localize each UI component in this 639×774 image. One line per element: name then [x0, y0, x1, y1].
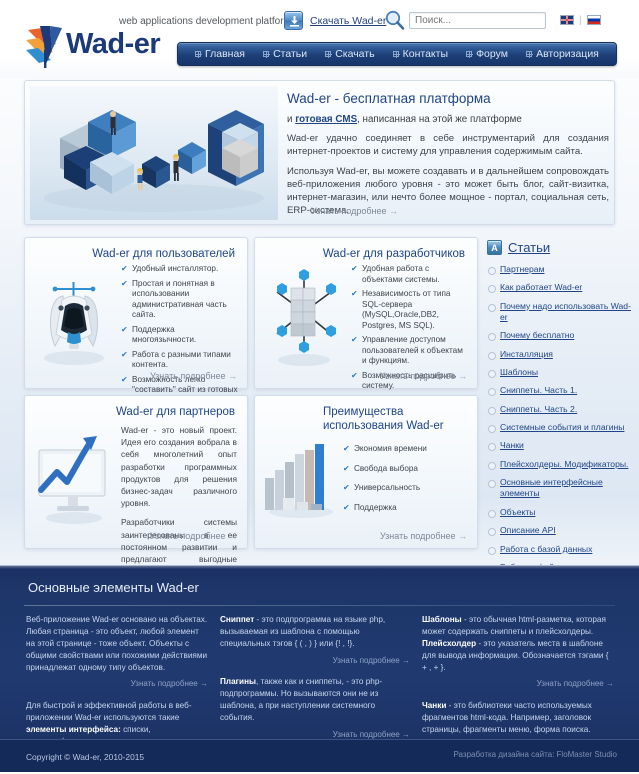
- nav-item-articles[interactable]: Статьи: [263, 48, 307, 60]
- key-element-block: Шаблоны - это обычная html-разметка, кот…: [422, 614, 614, 690]
- arrow-right-icon: →: [200, 679, 208, 688]
- list-item[interactable]: Работа с базой данных: [487, 544, 632, 555]
- logo-mark-icon: [22, 24, 70, 68]
- nav-item-label: Форум: [476, 48, 508, 60]
- list-item: Удобный инсталлятор.: [121, 264, 239, 275]
- hero-subtitle: и готовая CMS, написанная на этой же пла…: [287, 114, 609, 125]
- nav-item-label: Главная: [205, 48, 245, 60]
- more-label: Узнать подробнее: [150, 531, 226, 541]
- list-item[interactable]: Партнерам: [487, 264, 632, 275]
- partners-more-link[interactable]: Узнать подробнее →: [150, 531, 237, 541]
- text-bold: Шаблоны: [422, 615, 462, 624]
- grid-icon: [195, 51, 201, 57]
- box-title: Преимущества использования Wad-er: [255, 396, 477, 439]
- hero-sub-suffix: , написанная на этой же платформе: [357, 114, 522, 125]
- developers-more-link[interactable]: Узнать подробнее →: [380, 371, 467, 381]
- site-footer: Copyright © Wad-er, 2010-2015 Разработка…: [0, 739, 639, 772]
- key-elements-section: Основные элементы Wad-er Веб-приложение …: [0, 565, 639, 739]
- language-switcher: |: [560, 11, 608, 29]
- more-label: Узнать подробнее: [333, 656, 400, 665]
- text-body: - это библиотеки часто используемых фраг…: [422, 701, 592, 734]
- objects-more-link[interactable]: Узнать подробнее →: [26, 678, 208, 690]
- text-bold: Сниппет: [220, 615, 254, 624]
- download-link[interactable]: Скачать Wad-er: [310, 15, 386, 27]
- list-item[interactable]: Объекты: [487, 507, 632, 518]
- article-link[interactable]: Объекты: [500, 507, 535, 517]
- more-label: Узнать подробнее: [333, 730, 400, 739]
- feature-box-advantages: Преимущества использования Wad-er Эконом…: [254, 395, 478, 549]
- arrow-right-icon: →: [228, 371, 237, 381]
- text-bold: Чанки: [422, 701, 446, 710]
- list-item: Простая и понятная в использовании админ…: [121, 279, 239, 321]
- templates-more-link[interactable]: Узнать подробнее →: [422, 678, 614, 690]
- key-elements-column-2: Сниппет - это подпрограмма на языке php,…: [220, 614, 410, 750]
- hero-sub-prefix: и: [287, 114, 295, 125]
- more-label: Узнать подробнее: [131, 679, 198, 688]
- article-link[interactable]: Шаблоны: [500, 367, 538, 377]
- list-item: Свобода выбора: [343, 464, 469, 475]
- site-tagline: web applications development platform: [119, 16, 292, 27]
- list-item[interactable]: Инсталляция: [487, 349, 632, 360]
- sidebar-title[interactable]: Статьи: [508, 240, 550, 255]
- divider: [24, 605, 615, 606]
- grid-icon: [526, 51, 532, 57]
- list-item[interactable]: Плейсхолдеры. Модификаторы.: [487, 459, 632, 470]
- sidebar-header: A Статьи: [487, 240, 632, 255]
- site-logo[interactable]: Wad-er: [22, 22, 182, 70]
- grid-icon: [325, 51, 331, 57]
- list-item[interactable]: Почему бесплатно: [487, 330, 632, 341]
- list-item: Поддержка: [343, 503, 469, 514]
- arrow-right-icon: →: [458, 371, 467, 381]
- flag-separator: |: [579, 15, 582, 26]
- partners-paragraphs: Wad-er - это новый проект. Идея его созд…: [121, 424, 237, 584]
- article-link[interactable]: Системные события и плагины: [500, 422, 624, 432]
- key-element-block: Сниппет - это подпрограмма на языке php,…: [220, 614, 410, 666]
- list-item[interactable]: Системные события и плагины: [487, 422, 632, 433]
- nav-item-download[interactable]: Скачать: [325, 48, 374, 60]
- site-header: Wad-er web applications development plat…: [0, 0, 639, 78]
- cube-network-icon: [261, 262, 347, 372]
- more-label: Узнать подробнее: [150, 371, 226, 381]
- growth-chart-monitor-icon: [31, 426, 117, 526]
- text-bold: элементы интерфейса:: [26, 725, 121, 734]
- nav-item-contacts[interactable]: Контакты: [393, 48, 448, 60]
- hero-more-link[interactable]: Узнать подробнее →: [311, 206, 398, 216]
- more-label: Узнать подробнее: [380, 371, 456, 381]
- users-more-link[interactable]: Узнать подробнее →: [150, 371, 237, 381]
- download-icon[interactable]: [284, 11, 303, 30]
- list-item[interactable]: Почему надо использовать Wad-er: [487, 301, 632, 324]
- list-item: Удобная работа с объектами системы.: [351, 264, 469, 285]
- paragraph: Wad-er - это новый проект. Идея его созд…: [121, 424, 237, 509]
- advantages-feature-list: Экономия времени Свобода выбора Универса…: [343, 444, 469, 517]
- list-item[interactable]: Сниппеты. Часть 2.: [487, 404, 632, 415]
- list-item[interactable]: Шаблоны: [487, 367, 632, 378]
- list-item[interactable]: Описание API: [487, 525, 632, 536]
- flag-ru-icon[interactable]: [587, 15, 601, 25]
- design-credits: Разработка дизайна сайта: FloMaster Stud…: [453, 750, 617, 759]
- list-item: Управление доступом пользователей к объе…: [351, 335, 469, 367]
- article-link[interactable]: Партнерам: [500, 264, 544, 274]
- paragraph: Плагины, также как и сниппеты, - это php…: [220, 676, 410, 724]
- flag-uk-icon[interactable]: [560, 15, 574, 25]
- nav-item-home[interactable]: Главная: [195, 48, 245, 60]
- article-link[interactable]: Сниппеты. Часть 2.: [500, 404, 577, 414]
- text-bold: Плагины: [220, 677, 256, 686]
- arrow-right-icon: →: [389, 206, 398, 216]
- list-item[interactable]: Сниппеты. Часть 1.: [487, 385, 632, 396]
- grid-icon: [263, 51, 269, 57]
- logo-text: Wad-er: [66, 28, 160, 61]
- list-item: Независимость от типа SQL-сервера (MySQL…: [351, 289, 469, 331]
- feature-box-partners: Wad-er для партнеров Wad-er - это новый …: [24, 395, 248, 549]
- more-label: Узнать подробнее: [311, 206, 387, 216]
- arrow-right-icon: →: [402, 656, 410, 665]
- page-root: Wad-er web applications development plat…: [0, 0, 639, 772]
- main-navigation: Главная Статьи Скачать Контакты Форум Ав…: [177, 42, 617, 66]
- key-element-block: Веб-приложение Wad-er основано на объект…: [26, 614, 208, 690]
- paragraph: Веб-приложение Wad-er основано на объект…: [26, 614, 208, 673]
- hero-paragraph-1: Wad-er удачно соединяет в себе инструмен…: [287, 133, 609, 159]
- more-label: Узнать подробнее: [537, 679, 604, 688]
- advantages-more-link[interactable]: Узнать подробнее →: [380, 531, 467, 541]
- cms-link[interactable]: готовая CMS: [295, 114, 357, 125]
- list-item[interactable]: Чанки: [487, 440, 632, 451]
- article-link[interactable]: Описание API: [500, 525, 556, 535]
- text-pre: Для быстрой и эффективной работы в веб-п…: [26, 701, 192, 722]
- article-link[interactable]: Почему надо использовать Wad-er: [500, 301, 631, 322]
- box-title: Wad-er для партнеров: [25, 396, 247, 424]
- bar-chart-icon: [261, 436, 341, 521]
- list-item: Универсальность: [343, 483, 469, 494]
- installer-robot-icon: [31, 262, 117, 372]
- text-bold-2: Плейсхолдер: [422, 639, 476, 648]
- search-icon[interactable]: [384, 9, 406, 31]
- nav-item-label: Авторизация: [536, 48, 599, 60]
- copyright-text: Copyright © Wad-er, 2010-2015: [26, 752, 144, 762]
- arrow-right-icon: →: [228, 531, 237, 541]
- article-link[interactable]: Чанки: [500, 440, 524, 450]
- arrow-right-icon: →: [606, 679, 614, 688]
- paragraph: Чанки - это библиотеки часто используемы…: [422, 700, 614, 736]
- nav-item-label: Контакты: [403, 48, 448, 60]
- nav-item-authorization[interactable]: Авторизация: [526, 48, 599, 60]
- article-link[interactable]: Работа с базой данных: [500, 544, 592, 554]
- more-label: Узнать подробнее: [380, 531, 456, 541]
- paragraph: Сниппет - это подпрограмма на языке php,…: [220, 614, 410, 650]
- arrow-right-icon: →: [458, 531, 467, 541]
- section-title: Основные элементы Wad-er: [28, 580, 199, 595]
- list-item[interactable]: Как работает Wad-er: [487, 282, 632, 293]
- article-link[interactable]: Почему бесплатно: [500, 330, 574, 340]
- list-item: Экономия времени: [343, 444, 469, 455]
- hero-text: Wad-er - бесплатная платформа и готовая …: [287, 91, 609, 225]
- list-item: Работа с разными типами контента.: [121, 350, 239, 371]
- search-input[interactable]: [410, 13, 545, 28]
- hero-illustration: [30, 86, 278, 220]
- feature-box-users: Wad-er для пользователей Удобный инстал: [24, 237, 248, 389]
- key-element-block: Плагины, также как и сниппеты, - это php…: [220, 676, 410, 740]
- article-link[interactable]: Плейсхолдеры. Модификаторы.: [500, 459, 628, 469]
- articles-icon: A: [487, 240, 502, 255]
- article-link[interactable]: Как работает Wad-er: [500, 282, 582, 292]
- nav-item-label: Скачать: [335, 48, 374, 60]
- articles-icon-letter: A: [488, 242, 501, 255]
- arrow-right-icon: →: [402, 730, 410, 739]
- nav-item-label: Статьи: [273, 48, 307, 60]
- hero-title: Wad-er - бесплатная платформа: [287, 91, 609, 106]
- article-link[interactable]: Инсталляция: [500, 349, 553, 359]
- search-box[interactable]: [409, 12, 546, 29]
- grid-icon: [393, 51, 399, 57]
- hero-banner: Wad-er - бесплатная платформа и готовая …: [24, 80, 615, 225]
- article-link[interactable]: Основные интерфейсные элементы: [500, 477, 603, 498]
- snippet-more-link[interactable]: Узнать подробнее →: [220, 655, 410, 667]
- grid-icon: [466, 51, 472, 57]
- article-link[interactable]: Сниппеты. Часть 1.: [500, 385, 577, 395]
- list-item[interactable]: Основные интерфейсные элементы: [487, 477, 632, 500]
- list-item: Поддержка многоязычности.: [121, 325, 239, 346]
- paragraph: Шаблоны - это обычная html-разметка, кот…: [422, 614, 614, 673]
- feature-box-developers: Wad-er для разработчиков: [254, 237, 478, 389]
- articles-list: Партнерам Как работает Wad-er Почему над…: [487, 264, 632, 610]
- nav-item-forum[interactable]: Форум: [466, 48, 508, 60]
